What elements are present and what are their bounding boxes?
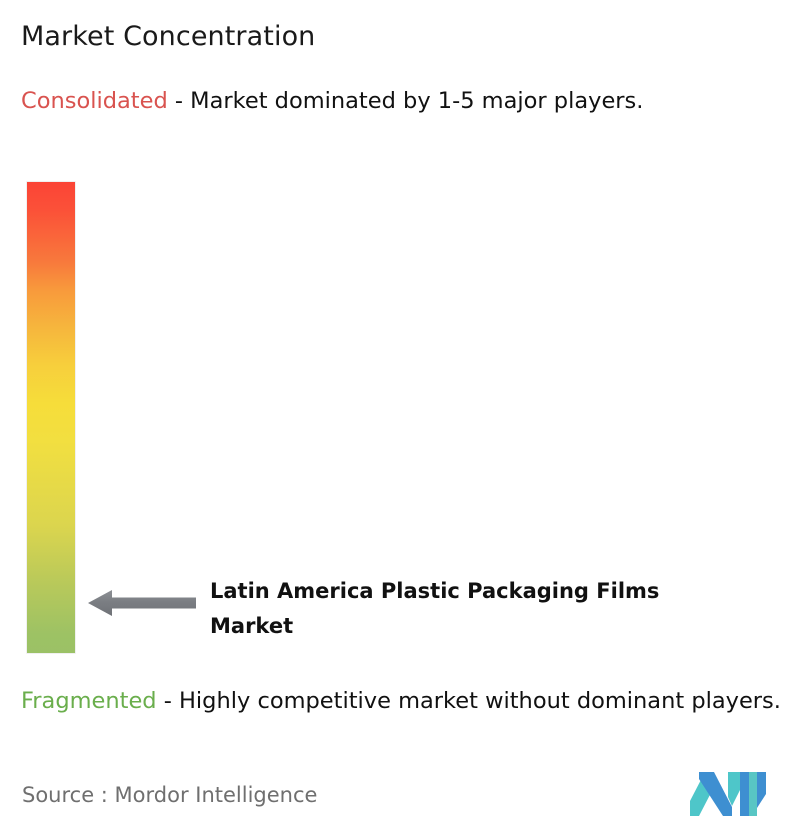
fragmented-keyword: Fragmented — [21, 688, 157, 714]
fragmented-description: - Highly competitive market without domi… — [157, 688, 781, 714]
mordor-intelligence-logo-icon — [688, 770, 768, 816]
market-position-pointer: Latin America Plastic Packaging Films Ma… — [88, 576, 688, 628]
page-title: Market Concentration — [21, 20, 315, 54]
consolidated-legend-caption: Consolidated - Market dominated by 1-5 m… — [21, 86, 773, 117]
source-attribution: Source : Mordor Intelligence — [22, 781, 317, 809]
left-arrow-icon — [88, 590, 196, 616]
market-pointer-label: Latin America Plastic Packaging Films Ma… — [210, 574, 680, 644]
consolidated-description: - Market dominated by 1-5 major players. — [168, 88, 644, 114]
consolidated-keyword: Consolidated — [21, 88, 168, 114]
market-concentration-scale-bar — [27, 182, 75, 653]
fragmented-legend-caption: Fragmented - Highly competitive market w… — [21, 686, 789, 717]
